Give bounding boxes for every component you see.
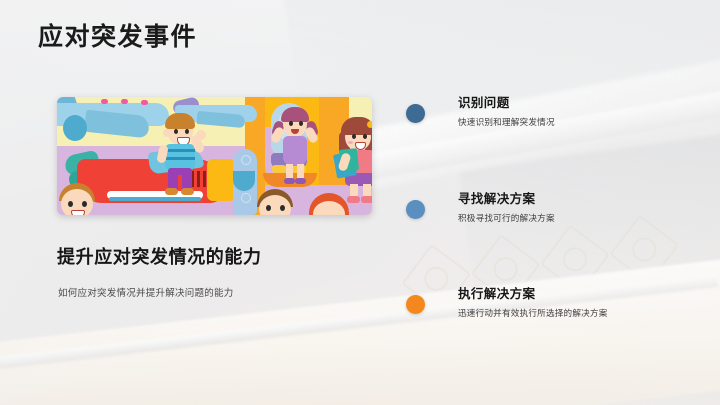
bullet-description: 快速识别和理解突发情况 — [458, 116, 555, 128]
bullet-description: 迅速行动并有效执行所选择的解决方案 — [458, 307, 608, 319]
girl-shoe-left — [284, 178, 295, 184]
peeking-middle-eye-left — [266, 205, 271, 211]
girl-book-hairclip — [367, 121, 372, 128]
bullet-description: 积极寻找可行的解决方案 — [458, 212, 555, 224]
blue-plane-window-2 — [121, 99, 128, 104]
girl-eye-right — [299, 121, 303, 126]
lead-subtitle: 如何应对突发情况并提升解决问题的能力 — [58, 285, 234, 299]
peeking-left-eye-right — [82, 201, 87, 207]
blue-plane-nose — [63, 115, 87, 141]
girl-book-cheek — [348, 141, 353, 144]
boy-shirt-stripe-2 — [165, 157, 195, 160]
girl-shoe-right — [295, 178, 306, 184]
peeking-middle-eye-right — [280, 205, 285, 211]
bullet-dot-icon — [406, 200, 425, 219]
boy-hair — [165, 113, 195, 129]
rocket-marking-1 — [241, 155, 251, 165]
girl-book-eye-right — [363, 134, 367, 139]
boy-shirt-stripe-1 — [165, 149, 195, 152]
girl-dress — [283, 136, 307, 166]
girl-book-shoe-left — [347, 196, 360, 203]
boy-eye-left — [174, 129, 178, 134]
girl-book-eye-left — [352, 134, 356, 139]
blue-plane-window-1 — [101, 99, 108, 104]
children-airplanes-illustration — [57, 97, 372, 215]
lead-heading: 提升应对突发情况的能力 — [57, 243, 262, 269]
boy-eye-right — [185, 129, 189, 134]
peeking-left-eye-left — [68, 201, 73, 207]
presentation-slide: 应对突发事件 — [0, 0, 720, 405]
bullet-text-block: 识别问题 快速识别和理解突发情况 — [458, 96, 555, 128]
boy-shoe-right — [181, 188, 194, 195]
plane-nose-shoe-left — [272, 165, 286, 173]
peeking-left-mouth — [71, 210, 85, 215]
peeking-middle-head — [259, 195, 291, 215]
girl-book-shoe-right — [361, 196, 372, 203]
rocket-marking-2 — [241, 193, 251, 203]
bullet-title: 识别问题 — [458, 96, 555, 111]
bullet-title: 寻找解决方案 — [458, 192, 555, 207]
bullet-title: 执行解决方案 — [458, 287, 608, 302]
bullet-text-block: 执行解决方案 迅速行动并有效执行所选择的解决方案 — [458, 287, 608, 319]
girl-eye-left — [289, 121, 293, 126]
blue-plane-window-3 — [141, 100, 148, 105]
bullet-text-block: 寻找解决方案 积极寻找可行的解决方案 — [458, 192, 555, 224]
bullet-dot-icon — [406, 295, 425, 314]
page-title: 应对突发事件 — [38, 22, 197, 53]
bullet-dot-icon — [406, 104, 425, 123]
boy-shoe-left — [165, 188, 178, 195]
red-plane-stripe-accent — [109, 197, 201, 201]
girl-hair — [281, 107, 309, 122]
boy-hand-waving — [196, 130, 206, 140]
